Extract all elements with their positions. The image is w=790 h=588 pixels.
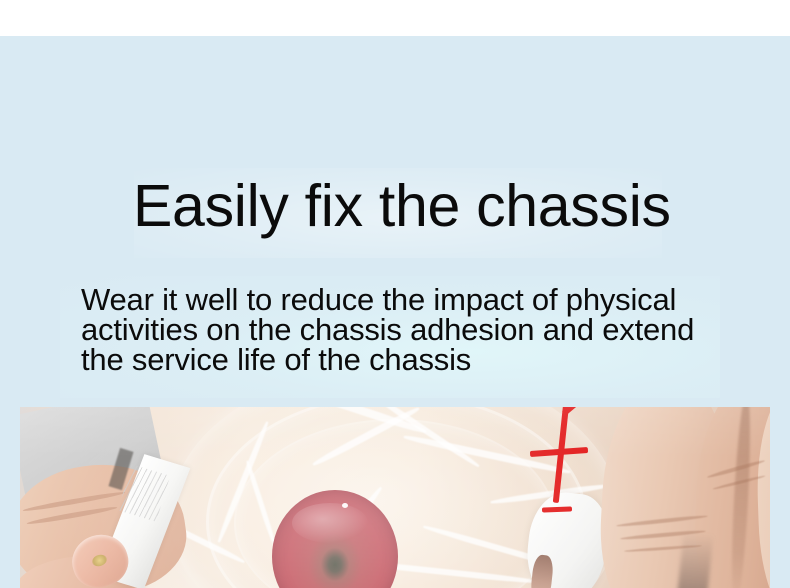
red-marker-line xyxy=(562,407,589,416)
description-line-1: Wear it well to reduce the impact of phy… xyxy=(81,285,706,315)
photo-canvas xyxy=(20,407,770,588)
page-title: Easily fix the chassis xyxy=(133,172,693,240)
product-detail-page: Easily fix the chassis Wear it well to r… xyxy=(0,0,790,588)
red-marker-line xyxy=(542,506,572,512)
stoma-highlight xyxy=(292,503,368,543)
hand-shadow xyxy=(676,532,713,588)
product-photo xyxy=(20,407,770,588)
description-line-3: the service life of the chassis xyxy=(81,345,706,375)
page-description: Wear it well to reduce the impact of phy… xyxy=(81,285,706,375)
stoma-specular-dot xyxy=(342,503,348,508)
top-white-strip xyxy=(0,0,790,36)
description-line-2: activities on the chassis adhesion and e… xyxy=(81,315,706,345)
